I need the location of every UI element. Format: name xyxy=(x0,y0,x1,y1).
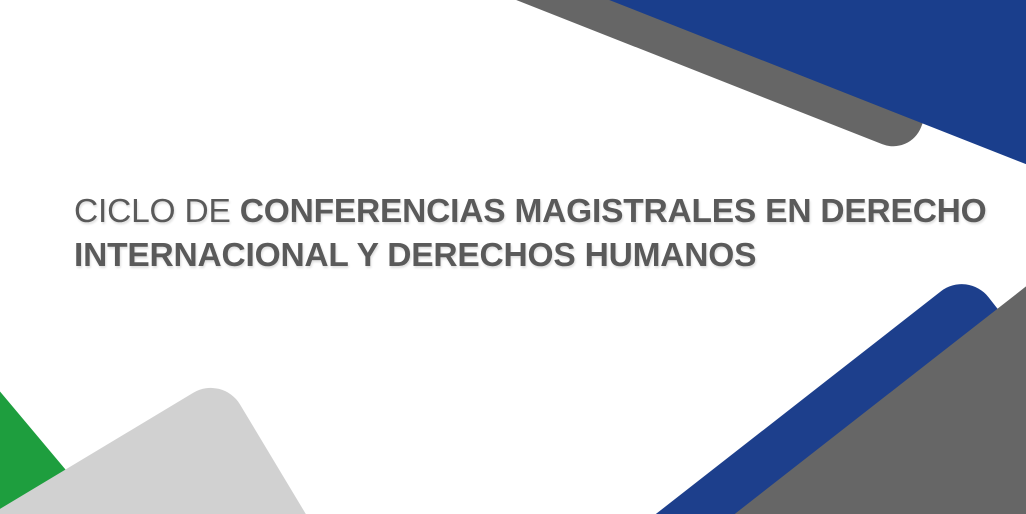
deco-gray-card-top-right xyxy=(389,0,1026,155)
deco-navy-card-bottom-right xyxy=(558,270,1026,514)
deco-light-blue-card-top-right xyxy=(855,0,1026,77)
deco-navy-card-top-right xyxy=(519,0,1026,192)
slide-canvas: CICLO DE CONFERENCIAS MAGISTRALES EN DER… xyxy=(0,0,1026,514)
title-lead: CICLO DE xyxy=(74,193,240,230)
page-title: CICLO DE CONFERENCIAS MAGISTRALES EN DER… xyxy=(74,190,994,278)
deco-gray-card-bottom-right xyxy=(617,261,1026,514)
deco-green-card-bottom-left xyxy=(0,359,165,514)
deco-light-gray-card-bottom-left xyxy=(0,375,408,514)
